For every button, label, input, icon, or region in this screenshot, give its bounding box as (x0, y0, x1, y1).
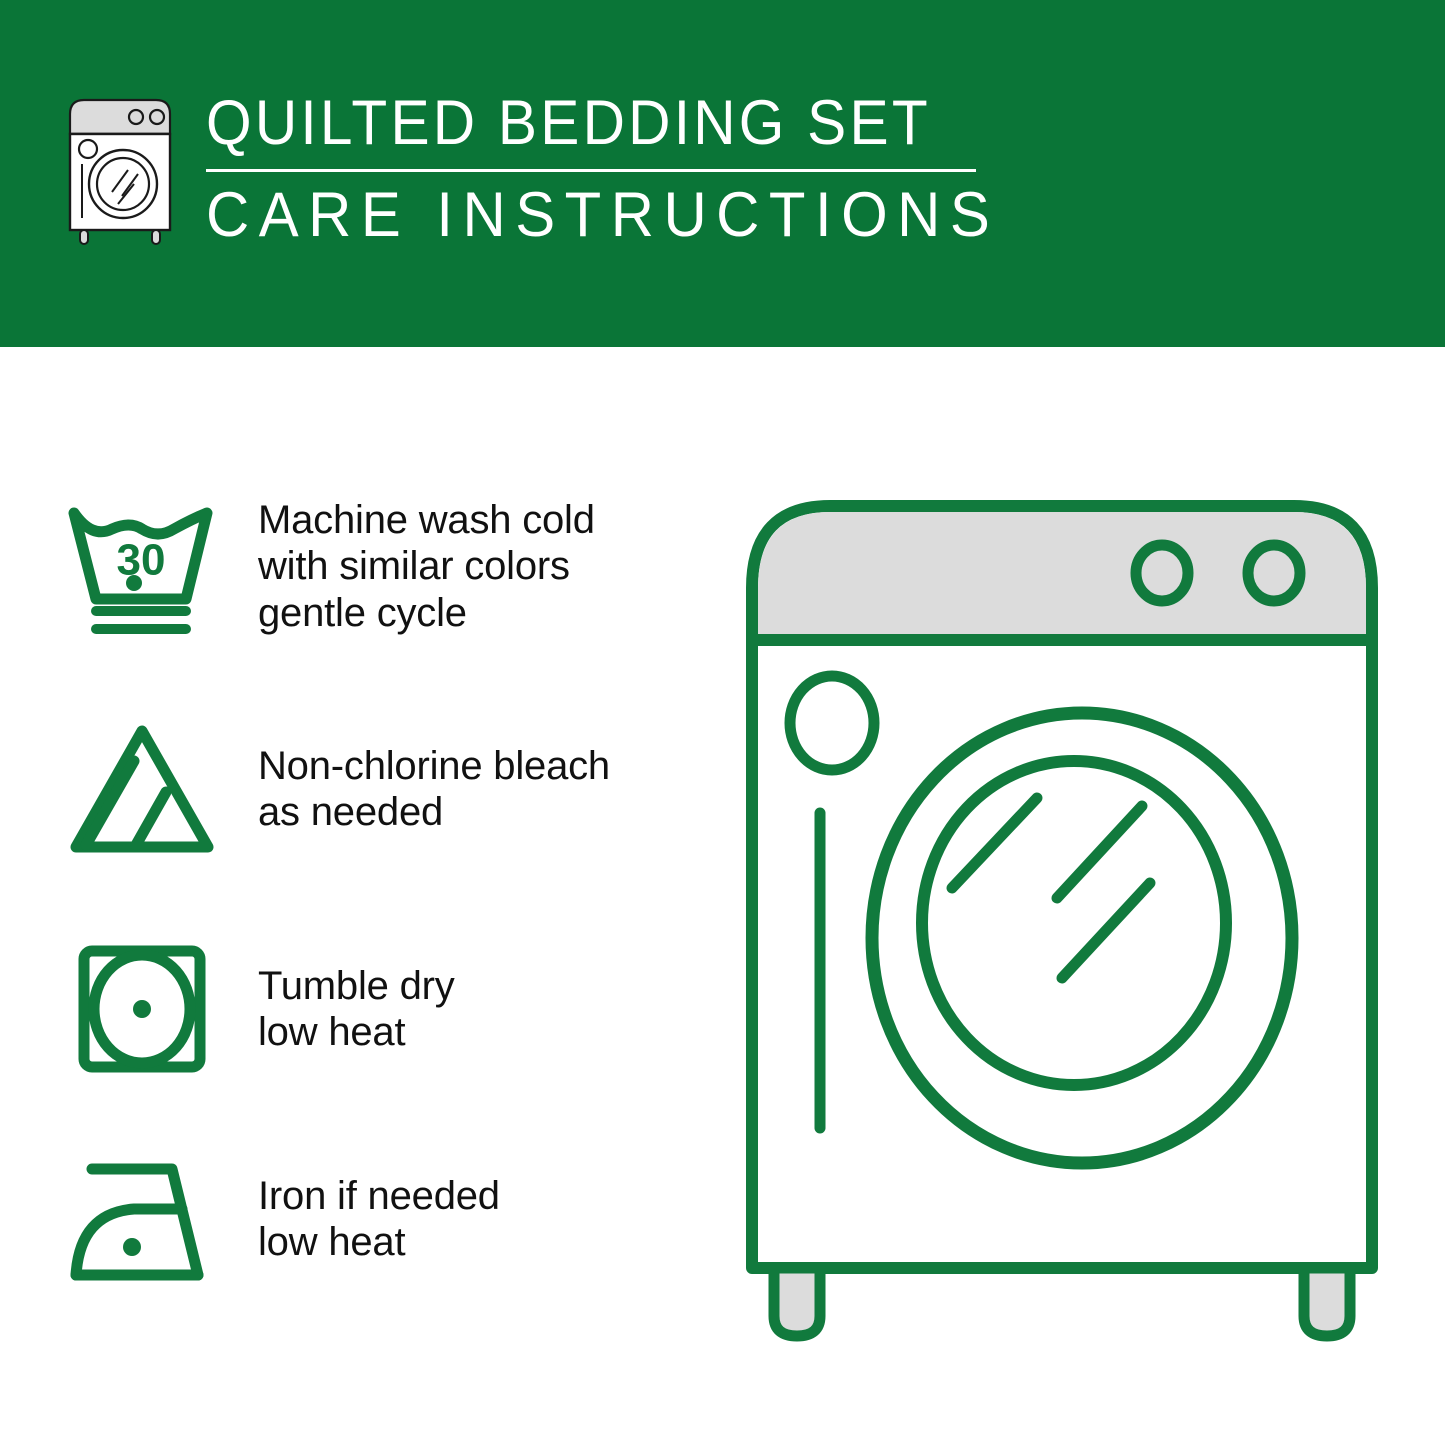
tumble-dry-low-icon (62, 935, 222, 1085)
header-text-block: QUILTED BEDDING SET CARE INSTRUCTIONS (206, 92, 1041, 247)
header-content: QUILTED BEDDING SET CARE INSTRUCTIONS (60, 92, 1041, 252)
non-chlorine-bleach-triangle-icon (62, 717, 222, 867)
instruction-item: 30 Machine wash cold with similar colors… (62, 495, 682, 645)
page-title: QUILTED BEDDING SET (206, 92, 931, 155)
wash-temperature-value: 30 (117, 536, 166, 585)
page-subtitle: CARE INSTRUCTIONS (206, 184, 999, 247)
instruction-label: Machine wash cold with similar colors ge… (258, 495, 682, 636)
instruction-item: Non-chlorine bleach as needed (62, 717, 682, 867)
instruction-item: Tumble dry low heat (62, 935, 682, 1085)
washer-leg-left (774, 1268, 820, 1336)
instruction-label: Iron if needed low heat (258, 1147, 682, 1266)
instruction-list: 30 Machine wash cold with similar colors… (0, 347, 700, 1445)
instruction-item: Iron if needed low heat (62, 1147, 682, 1297)
instruction-label: Tumble dry low heat (258, 935, 682, 1056)
iron-low-heat-icon (62, 1147, 222, 1297)
wash-tub-30-icon: 30 (62, 495, 222, 645)
instruction-label: Non-chlorine bleach as needed (258, 717, 682, 836)
porthole-inner-ring (922, 761, 1226, 1085)
front-load-washing-machine-illustration (712, 468, 1412, 1368)
detergent-dispenser-icon (790, 676, 874, 770)
washer-leg-right (1304, 1268, 1350, 1336)
washing-machine-icon (60, 92, 180, 252)
washer-knob-right (1248, 545, 1300, 601)
washer-knob-left (1136, 545, 1188, 601)
care-instructions-infographic: QUILTED BEDDING SET CARE INSTRUCTIONS 30 (0, 0, 1445, 1445)
header-band: QUILTED BEDDING SET CARE INSTRUCTIONS (0, 0, 1445, 347)
title-divider (206, 169, 976, 172)
